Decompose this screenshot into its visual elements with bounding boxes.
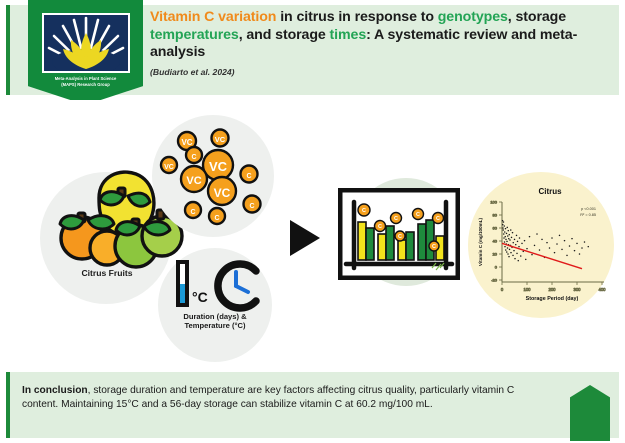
title-part-2: genotypes <box>438 9 508 25</box>
thermometer-clock-icon: °C <box>170 258 262 314</box>
scatter-trendline <box>502 243 582 268</box>
vitamin-c-molecules-icon: VC VC VC VC VC C VC C C C C <box>152 115 274 237</box>
title-part-4: temperatures <box>150 27 239 43</box>
svg-text:C: C <box>416 212 420 218</box>
middle-section: Citrus Fruits VC VC VC VC <box>0 100 625 365</box>
title-part-3: , storage <box>508 9 566 25</box>
svg-text:C: C <box>436 216 440 222</box>
svg-text:40: 40 <box>493 239 498 244</box>
svg-text:C: C <box>190 209 195 216</box>
scatter-plot-chart: Citrus 100 80 60 40 20 0 -20 0 100 200 3… <box>468 172 614 318</box>
conclusion-text: In conclusion, storage duration and temp… <box>22 384 547 412</box>
svg-text:VC: VC <box>209 159 228 174</box>
svg-text:C: C <box>362 208 366 214</box>
authors-citation: (Budiarto et al. 2024) <box>150 67 605 77</box>
svg-text:100: 100 <box>490 200 497 205</box>
svg-text:VC: VC <box>214 186 231 200</box>
logo-caption: Meta-Analysis in Plant Science (MAPS) Re… <box>32 76 140 87</box>
wheat-sun-emblem-icon <box>42 13 130 73</box>
svg-text:80: 80 <box>493 213 498 218</box>
svg-text:20: 20 <box>493 252 498 257</box>
svg-text:60: 60 <box>493 226 498 231</box>
svg-text:200: 200 <box>549 287 557 292</box>
svg-text:C: C <box>191 154 196 161</box>
svg-text:C: C <box>214 215 219 222</box>
svg-text:0: 0 <box>495 265 498 270</box>
logo-caption-line2: (MAPS) Research Group <box>32 82 140 88</box>
title-part-0: Vitamin C variation <box>150 9 276 25</box>
svg-text:C: C <box>246 173 251 180</box>
header-accent-bar <box>6 5 10 95</box>
svg-text:C: C <box>378 224 382 230</box>
title-block: Vitamin C variation in citrus in respons… <box>150 9 605 77</box>
scatter-x-ticks: 0 100 200 300 400 <box>501 282 606 292</box>
svg-text:C: C <box>394 216 398 222</box>
svg-text:C: C <box>398 234 402 240</box>
scatter-y-ticks: 100 80 60 40 20 0 -20 <box>490 200 502 283</box>
duration-label-line1: Duration (days) & <box>158 312 272 321</box>
title-part-1: in citrus in response to <box>276 9 437 25</box>
scatter-annotation-pvalue: p <0.001 <box>581 207 596 211</box>
arrow-right-icon <box>288 218 322 258</box>
graphical-abstract-page: Meta-Analysis in Plant Science (MAPS) Re… <box>0 0 625 443</box>
thermometer-unit-label: °C <box>192 289 208 305</box>
svg-text:0: 0 <box>501 287 504 292</box>
svg-text:C: C <box>249 203 254 210</box>
title-part-6: times <box>330 27 367 43</box>
duration-label-line2: Temperature (°C) <box>158 321 272 330</box>
duration-temperature-label: Duration (days) & Temperature (°C) <box>158 312 272 331</box>
scatter-data-points <box>502 220 589 261</box>
svg-text:100: 100 <box>524 287 532 292</box>
svg-text:400: 400 <box>599 287 607 292</box>
maps-logo-banner: Meta-Analysis in Plant Science (MAPS) Re… <box>28 0 143 105</box>
footer-accent-bar <box>6 372 10 438</box>
scatter-x-axis-label: Storage Period (day) <box>526 296 579 302</box>
conclusion-lead: In conclusion <box>22 385 88 396</box>
scatter-chart-title: Citrus <box>538 187 562 196</box>
thermometer-icon <box>176 260 189 307</box>
scatter-y-axis-label: Vitamin C (mg/100mL) <box>478 217 483 266</box>
bar-chart-illustration-icon: CCC CCC C <box>338 188 460 280</box>
svg-text:VC: VC <box>164 164 174 171</box>
svg-text:C: C <box>432 244 436 250</box>
page-title: Vitamin C variation in citrus in respons… <box>150 9 605 62</box>
svg-text:VC: VC <box>181 138 192 147</box>
scatter-annotation-rsquared: R² = 0.85 <box>580 213 596 217</box>
svg-text:-20: -20 <box>491 278 498 283</box>
clock-icon <box>218 264 256 308</box>
wheat-sun-icon-svg <box>44 15 128 71</box>
citrus-fruits-label: Citrus Fruits <box>52 268 162 278</box>
title-part-5: , and storage <box>239 27 330 43</box>
conclusion-body: , storage duration and temperature are k… <box>22 385 514 410</box>
svg-text:VC: VC <box>215 135 226 144</box>
svg-text:300: 300 <box>574 287 582 292</box>
svg-text:VC: VC <box>186 175 201 187</box>
